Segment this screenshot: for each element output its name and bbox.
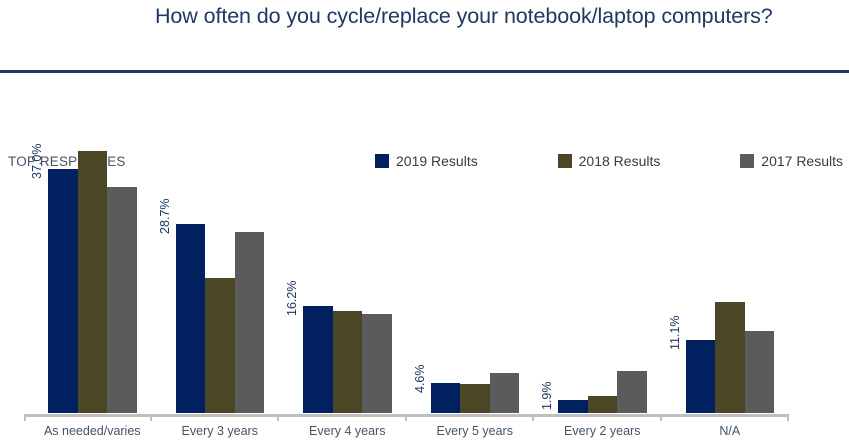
bar-2019-4[interactable] [431,383,461,413]
x-axis-label-3: Every 4 years [281,424,414,438]
bar-2018-4[interactable] [460,384,490,413]
data-label-2019-6: 11.1% [668,315,682,350]
bar-2018-5[interactable] [588,396,618,413]
x-axis-label-4: Every 5 years [409,424,542,438]
x-axis-tick-0 [24,414,26,421]
bar-2017-6[interactable] [745,331,775,413]
x-axis-label-1: As needed/varies [26,424,159,438]
title-block: How often do you cycle/replace your note… [155,2,835,31]
x-axis-label-6: N/A [664,424,797,438]
bar-2018-6[interactable] [715,302,745,413]
x-axis-tick-3 [405,414,407,421]
x-axis-tick-6 [787,414,789,421]
x-axis-label-5: Every 2 years [536,424,669,438]
legend-band: TOP RESPONSES 2019 Results 2018 Results … [0,75,849,101]
x-axis-line [24,414,789,417]
data-label-2019-5: 1.9% [540,382,554,411]
header-divider [0,70,849,73]
bar-2017-4[interactable] [490,373,520,413]
bar-2019-1[interactable] [48,169,78,413]
x-axis-label-2: Every 3 years [154,424,287,438]
bar-2017-5[interactable] [617,371,647,413]
bar-2018-3[interactable] [333,311,363,413]
bar-2017-1[interactable] [107,187,137,413]
bar-2019-6[interactable] [686,340,716,413]
page-title: How often do you cycle/replace your note… [155,2,835,31]
data-label-2019-4: 4.6% [413,364,427,393]
bar-2017-2[interactable] [235,232,265,414]
chart-plot-area: 37.0%28.7%16.2%4.6%1.9%11.1% As needed/v… [0,101,849,444]
bar-2018-1[interactable] [78,151,108,413]
x-axis-tick-1 [150,414,152,421]
bar-2019-2[interactable] [176,224,206,413]
data-label-2019-3: 16.2% [285,281,299,316]
bar-2019-5[interactable] [558,400,588,413]
data-label-2019-2: 28.7% [158,198,172,233]
x-axis-tick-2 [277,414,279,421]
bar-2018-2[interactable] [205,278,235,413]
x-axis-tick-5 [660,414,662,421]
bar-2017-3[interactable] [362,314,392,413]
bar-2019-3[interactable] [303,306,333,413]
data-label-2019-1: 37.0% [30,143,44,178]
x-axis-tick-4 [532,414,534,421]
